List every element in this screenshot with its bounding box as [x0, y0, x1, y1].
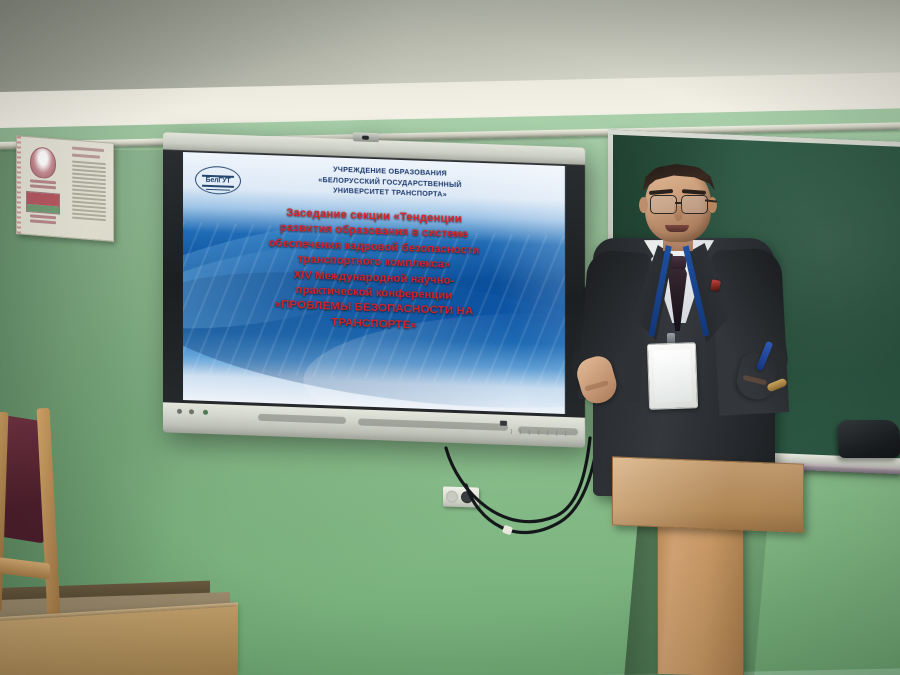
- power-button[interactable]: [177, 409, 182, 414]
- status-led-icon: [203, 410, 208, 415]
- wooden-chair: [0, 418, 60, 633]
- nose: [674, 205, 683, 221]
- webcam-icon: [353, 132, 379, 142]
- necktie-knot: [670, 256, 686, 269]
- lens-left: [650, 195, 677, 214]
- poster-ornament-border: [17, 136, 21, 233]
- flag-of-belarus-icon: [26, 191, 60, 215]
- lens-right: [681, 195, 708, 214]
- dark-bag-on-ledge: [837, 420, 900, 458]
- interactive-whiteboard[interactable]: БелГУТ УЧРЕЖДЕНИЕ ОБРАЗОВАНИЯ «БЕЛОРУССК…: [163, 132, 585, 447]
- wooden-lectern: [612, 456, 804, 532]
- slide-title-block: Заседание секции «Тенденции развития обр…: [191, 202, 557, 339]
- glasses-bridge: [675, 202, 681, 204]
- lectern-column: [657, 521, 744, 675]
- poster-right-column: [69, 144, 109, 236]
- presenter: [575, 165, 790, 495]
- mouth: [665, 225, 689, 232]
- conference-badge: [647, 342, 698, 410]
- menu-button[interactable]: [189, 409, 194, 414]
- coat-of-arms-icon: [30, 146, 56, 179]
- speaker-grille: [258, 414, 346, 424]
- belarus-state-symbols-poster: [16, 135, 114, 242]
- chair-seat: [0, 556, 50, 579]
- control-indicator-row: [511, 429, 573, 436]
- usb-port-icon[interactable]: [500, 421, 507, 426]
- display-screen[interactable]: БелГУТ УЧРЕЖДЕНИЕ ОБРАЗОВАНИЯ «БЕЛОРУССК…: [183, 152, 565, 414]
- poster-left-column: [22, 141, 64, 233]
- speaker-grille: [358, 418, 508, 431]
- photo-scene: БелГУТ УЧРЕЖДЕНИЕ ОБРАЗОВАНИЯ «БЕЛОРУССК…: [0, 0, 900, 675]
